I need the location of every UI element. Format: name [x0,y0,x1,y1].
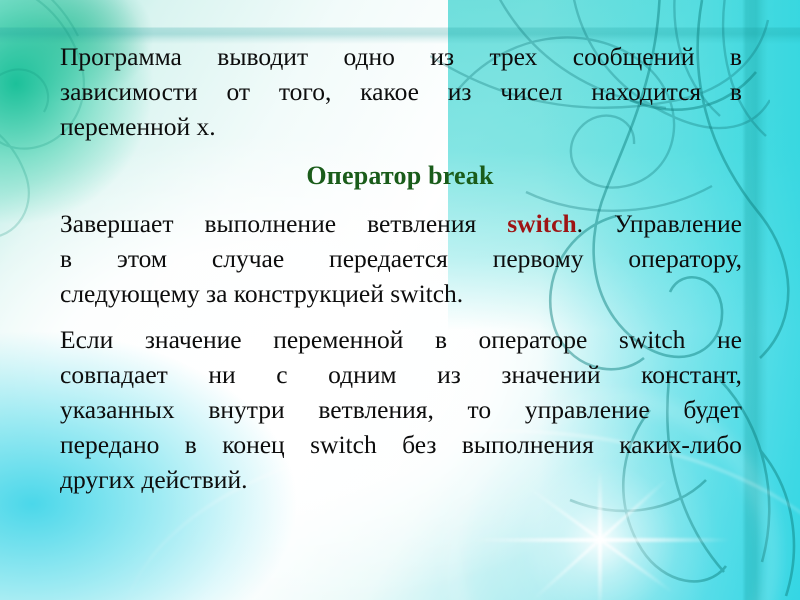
paragraph-3-line-2: совпадаетнисоднимиззначенийконстант, [60,360,742,390]
paragraph-1-line-1: Программавыводитодноизтрехсообщенийв [60,42,742,72]
paragraph-2-line-3: следующему за конструкцией switch. [60,279,742,309]
paragraph-1-line-3: переменной x. [60,112,742,142]
slide-canvas: Программавыводитодноизтрехсообщенийв зав… [0,0,800,600]
paragraph-2-line-1: Завершаетвыполнениеветвленияswitch.Управ… [60,209,742,239]
paragraph-3-line-3: указанныхвнутриветвления,тоуправлениебуд… [60,395,742,425]
slide-text-content: Программавыводитодноизтрехсообщенийв зав… [0,0,800,600]
paragraph-3-line-1: Еслизначениепеременнойвоператореswitchне [60,325,742,355]
paragraph-1-line-2: зависимостиоттого,какоеизчиселнаходитсяв [60,77,742,107]
paragraph-3-line-4: передановконецswitchбезвыполнениякаких-л… [60,430,742,460]
paragraph-3-line-5: других действий. [60,465,742,495]
section-heading: Оператор break [0,160,800,192]
section-heading-text: Оператор break [306,161,493,190]
paragraph-2-line-2: вэтомслучаепередаетсяпервомуоператору, [60,244,742,274]
